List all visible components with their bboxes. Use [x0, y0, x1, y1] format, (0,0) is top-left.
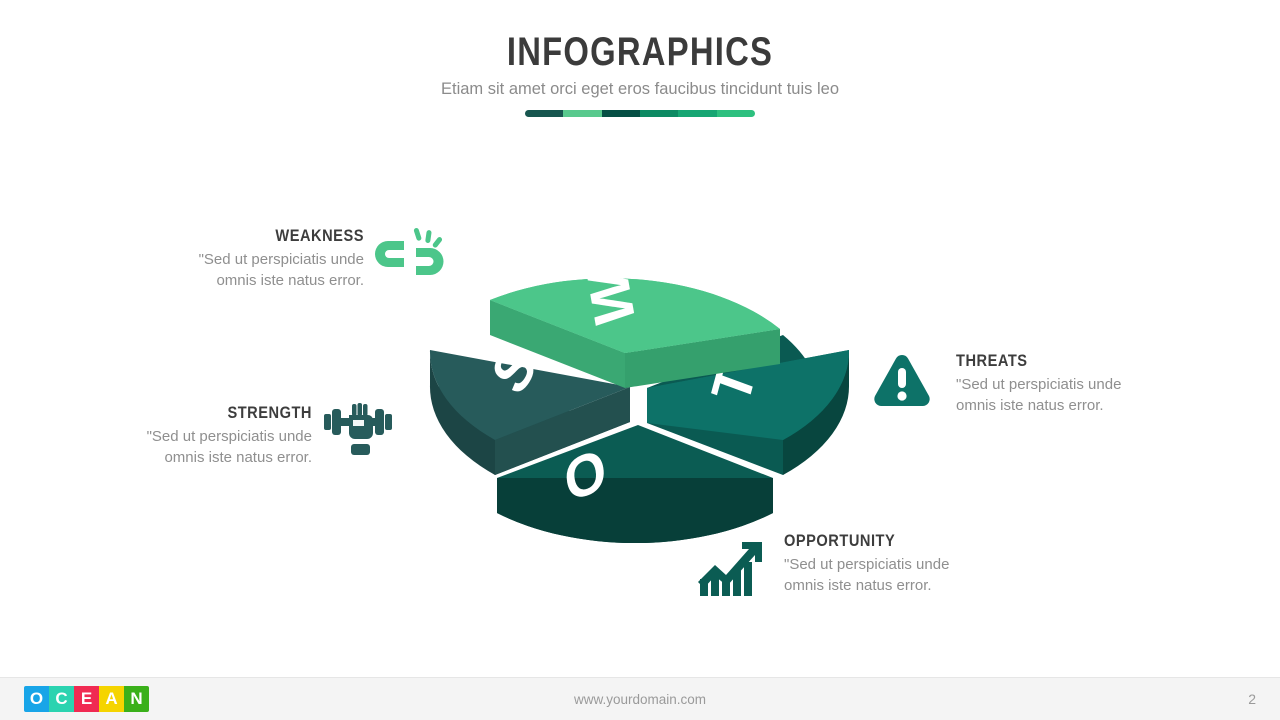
divider-segment-0 [525, 110, 563, 117]
title-divider [525, 110, 755, 117]
callout-weakness-heading: WEAKNESS [152, 227, 364, 246]
divider-segment-5 [717, 110, 755, 117]
callout-threats-heading: THREATS [956, 352, 1145, 371]
divider-segment-3 [640, 110, 678, 117]
callout-strength: STRENGTH "Sed ut perspiciatis unde omnis… [100, 404, 312, 469]
pie-label-w: W [574, 268, 649, 327]
callout-opportunity-body: "Sed ut perspiciatis unde omnis iste nat… [784, 554, 1014, 598]
warning-triangle-icon [872, 352, 932, 410]
slide: INFOGRAPHICS Etiam sit amet orci eget er… [0, 0, 1280, 720]
callout-weakness: WEAKNESS "Sed ut perspiciatis unde omnis… [118, 227, 364, 292]
footer-page-number: 2 [1248, 678, 1256, 720]
swot-pie-chart: S O T W [425, 230, 855, 550]
slide-footer: OCEAN www.yourdomain.com 2 [0, 677, 1280, 720]
dumbbell-fist-icon [322, 400, 394, 462]
callout-weakness-body: "Sed ut perspiciatis unde omnis iste nat… [118, 249, 364, 293]
growth-chart-icon [696, 535, 766, 599]
page-title: INFOGRAPHICS [115, 32, 1165, 72]
divider-segment-2 [602, 110, 640, 117]
page-subtitle: Etiam sit amet orci eget eros faucibus t… [0, 81, 1280, 98]
callout-threats: THREATS "Sed ut perspiciatis unde omnis … [956, 352, 1176, 417]
broken-link-icon [374, 226, 446, 288]
callout-opportunity: OPPORTUNITY "Sed ut perspiciatis unde om… [784, 532, 1014, 597]
divider-segment-4 [678, 110, 716, 117]
callout-strength-body: "Sed ut perspiciatis unde omnis iste nat… [100, 426, 312, 470]
slide-header: INFOGRAPHICS Etiam sit amet orci eget er… [0, 32, 1280, 117]
callout-threats-body: "Sed ut perspiciatis unde omnis iste nat… [956, 374, 1176, 418]
footer-url[interactable]: www.yourdomain.com [0, 678, 1280, 720]
pie-svg: S O T W [425, 230, 855, 550]
divider-segment-1 [563, 110, 601, 117]
callout-opportunity-heading: OPPORTUNITY [784, 532, 982, 551]
callout-strength-heading: STRENGTH [130, 404, 312, 423]
